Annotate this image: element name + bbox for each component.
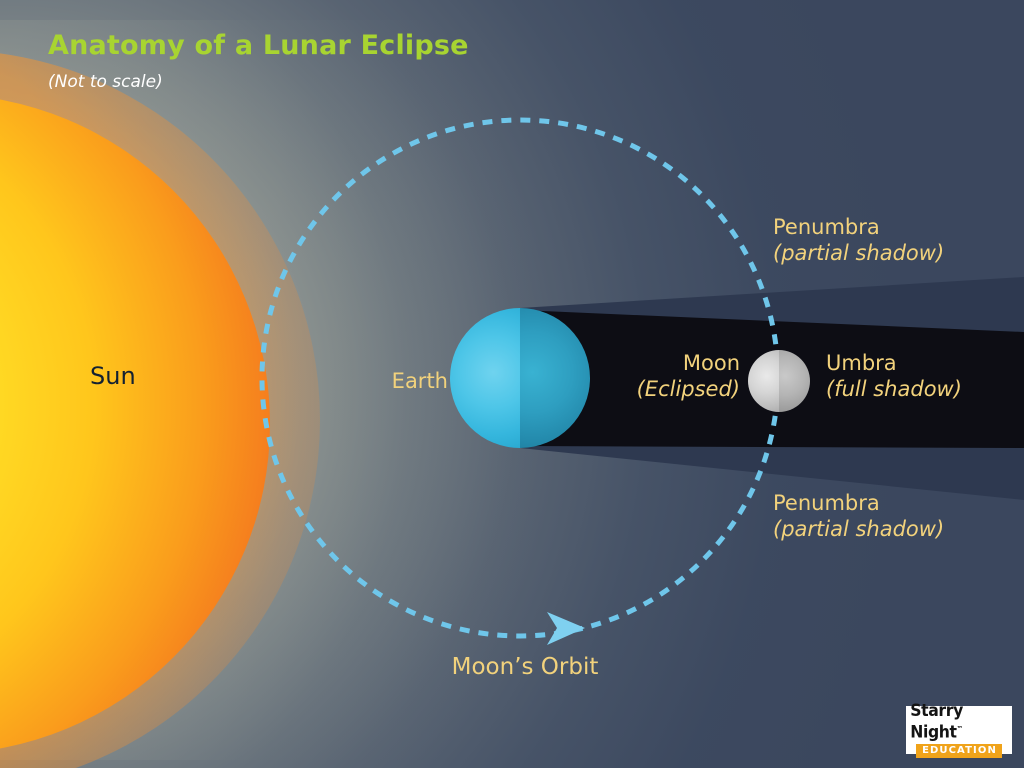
penumbra-top-line2: (partial shadow) <box>773 240 944 266</box>
logo-brand-name: Starry Night™ <box>910 702 1008 742</box>
moon-label-line2: (Eclipsed) <box>560 376 740 402</box>
moon-label-line1: Moon <box>560 350 740 376</box>
umbra-label-line2: (full shadow) <box>826 376 962 402</box>
penumbra-top-label: Penumbra (partial shadow) <box>773 214 944 266</box>
orbit-arrowhead <box>547 612 585 645</box>
penumbra-bottom-line2: (partial shadow) <box>773 516 944 542</box>
logo-brand-text: Starry Night <box>910 701 963 743</box>
penumbra-bottom-label: Penumbra (partial shadow) <box>773 490 944 542</box>
penumbra-bottom-line1: Penumbra <box>773 490 944 516</box>
trademark-icon: ™ <box>957 725 963 733</box>
moon-sphere <box>748 350 810 412</box>
umbra-label-line1: Umbra <box>826 350 962 376</box>
penumbra-top-line1: Penumbra <box>773 214 944 240</box>
orbit-label: Moon’s Orbit <box>400 654 650 680</box>
logo-education-text: EDUCATION <box>916 744 1002 758</box>
earth-label-text: Earth <box>300 368 448 394</box>
starry-night-education-logo: Starry Night™ EDUCATION <box>906 706 1012 754</box>
moon-dark-hemisphere <box>779 350 810 412</box>
moon-label: Moon (Eclipsed) <box>560 350 740 402</box>
earth-lit-hemisphere <box>450 308 520 448</box>
lunar-eclipse-diagram: Anatomy of a Lunar Eclipse (Not to scale… <box>0 0 1024 768</box>
moon-lit-hemisphere <box>748 350 779 412</box>
page-subtitle: (Not to scale) <box>48 72 163 92</box>
umbra-label: Umbra (full shadow) <box>826 350 962 402</box>
sun-label: Sun <box>90 362 136 390</box>
orbit-label-text: Moon’s Orbit <box>400 654 650 680</box>
earth-label: Earth <box>300 368 448 394</box>
page-title: Anatomy of a Lunar Eclipse <box>48 30 469 61</box>
